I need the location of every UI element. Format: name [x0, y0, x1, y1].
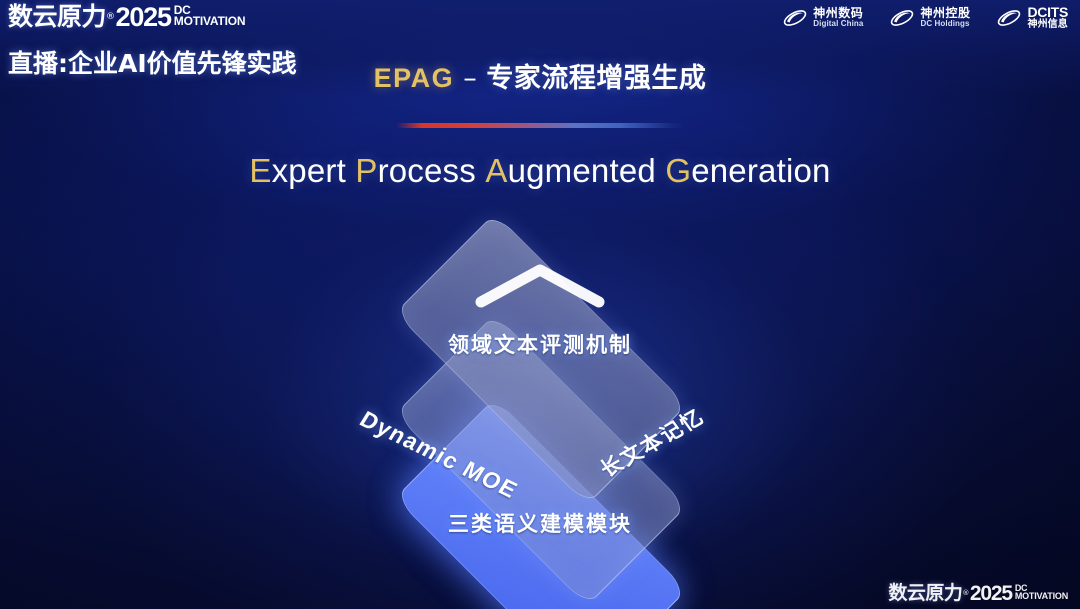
slide-canvas: 数云原力®2025 DC MOTIVATION 直播:企业AI价值先锋实践 神州…: [0, 0, 1080, 609]
title-chinese: 专家流程增强生成: [486, 63, 706, 94]
footer-brand-dc-motivation: DC MOTIVATION: [1015, 584, 1068, 601]
logo-line1: DCITS: [1027, 5, 1068, 19]
dc-swirl-icon: [889, 7, 915, 29]
title-dash: –: [454, 63, 486, 94]
dc-swirl-icon: [782, 7, 808, 29]
footer-brand-motivation-label: MOTIVATION: [1015, 592, 1068, 601]
subtitle-rest-augmented: ugmented: [508, 152, 656, 189]
brand-dc-motivation: DC MOTIVATION: [174, 4, 246, 27]
subtitle-rest-generation: eneration: [691, 152, 830, 189]
footer-brand-chinese-name: 数云原力: [888, 582, 962, 605]
subtitle-rest-expert: xpert: [272, 152, 346, 189]
subtitle-cap-a: A: [485, 152, 507, 189]
title-divider: [396, 123, 684, 128]
isometric-layer-diagram: 领域文本评测机制 Dynamic MOE 长文本记忆 三类语义建模模块: [290, 228, 790, 573]
logo-digital-china-text: 神州数码 Digital China: [813, 7, 863, 28]
footer-brand-registered-mark: ®: [962, 582, 969, 605]
logo-line2: DC Holdings: [920, 20, 970, 28]
subtitle-cap-e: E: [249, 152, 271, 189]
brand-year: 2025: [116, 2, 171, 32]
brand-motivation-label: MOTIVATION: [174, 15, 246, 27]
logo-dc-holdings-text: 神州控股 DC Holdings: [920, 7, 970, 28]
dc-swirl-icon: [996, 7, 1022, 29]
subtitle-cap-p: P: [355, 152, 377, 189]
logo-line2: 神州信息: [1027, 20, 1068, 30]
footer-brand-year: 2025: [970, 582, 1012, 605]
subtitle-rest-process: rocess: [378, 152, 476, 189]
logo-line1: 神州控股: [920, 7, 970, 19]
footer-brand-logo: 数云原力®2025 DC MOTIVATION: [888, 582, 1068, 605]
logo-line1: 神州数码: [813, 7, 863, 19]
header-brand-logo: 数云原力®2025 DC MOTIVATION: [8, 2, 245, 32]
logo-digital-china: 神州数码 Digital China: [782, 7, 863, 29]
partner-logo-group: 神州数码 Digital China 神州控股 DC Holdings: [782, 5, 1068, 30]
logo-dc-holdings: 神州控股 DC Holdings: [889, 7, 970, 29]
brand-chinese-name: 数云原力: [8, 2, 106, 32]
logo-dcits-text: DCITS 神州信息: [1027, 5, 1068, 30]
page-subtitle: Expert Process Augmented Generation: [0, 152, 1080, 190]
brand-registered-mark: ®: [106, 2, 115, 32]
title-acronym: EPAG: [374, 63, 455, 93]
page-title: EPAG – 专家流程增强生成: [0, 56, 1080, 95]
logo-line2: Digital China: [813, 20, 863, 28]
subtitle-cap-g: G: [665, 152, 691, 189]
logo-dcits: DCITS 神州信息: [996, 5, 1068, 30]
chevron-up-icon: [475, 262, 605, 308]
